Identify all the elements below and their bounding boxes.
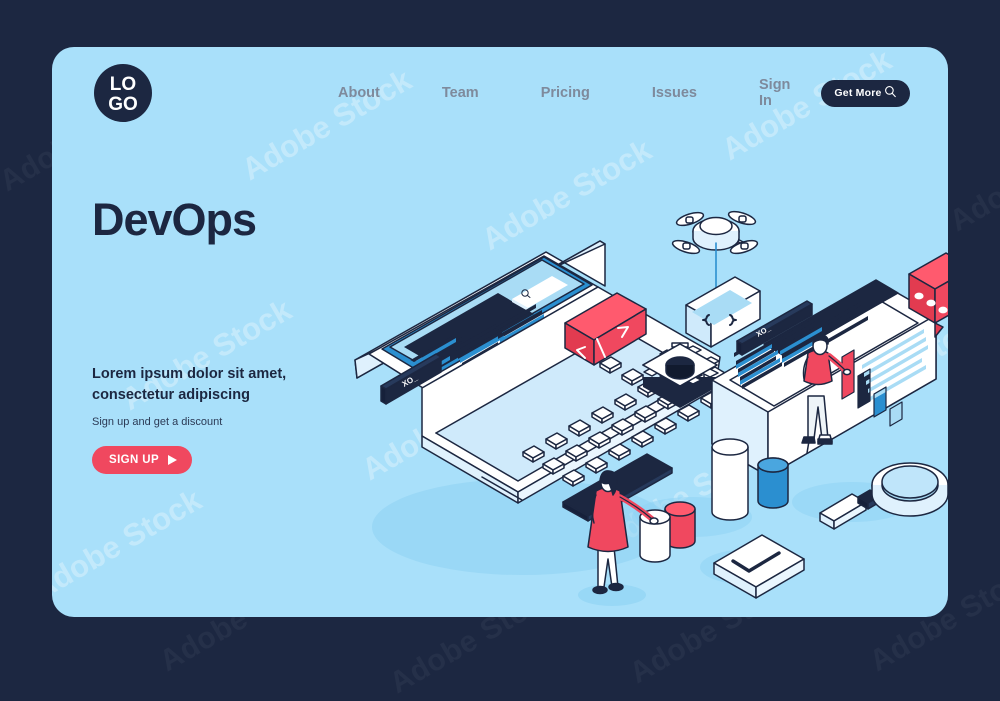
- logo-line-1: LO: [110, 75, 136, 94]
- hero-subtitle: Lorem ipsum dolor sit amet, consectetur …: [92, 364, 312, 405]
- nav-item-about[interactable]: About: [307, 85, 411, 101]
- hero-copy: DevOps Lorem ipsum dolor sit amet, conse…: [92, 197, 422, 474]
- nav-item-signin[interactable]: Sign In: [728, 77, 821, 109]
- landing-page-panel: Adobe Stock Adobe Stock Adobe Stock Adob…: [52, 47, 948, 617]
- site-header: LO GO About Team Pricing Issues Sign In …: [52, 47, 948, 139]
- frame-watermark: Adobe Stock: [944, 115, 1000, 239]
- nav-item-team[interactable]: Team: [411, 85, 510, 101]
- get-more-button[interactable]: Get More: [821, 80, 910, 107]
- sign-up-label: SIGN UP: [109, 454, 159, 466]
- main-nav: About Team Pricing Issues Sign In: [307, 77, 821, 109]
- sign-up-button[interactable]: SIGN UP: [92, 446, 192, 474]
- logo[interactable]: LO GO: [94, 64, 152, 122]
- get-more-label: Get More: [834, 87, 881, 99]
- play-triangle-icon: [168, 455, 177, 465]
- logo-line-2: GO: [108, 95, 138, 114]
- nav-item-pricing[interactable]: Pricing: [510, 85, 621, 101]
- page-title: DevOps: [92, 197, 422, 242]
- hero-note: Sign up and get a discount: [92, 416, 422, 428]
- nav-item-issues[interactable]: Issues: [621, 85, 728, 101]
- search-icon: [884, 85, 897, 101]
